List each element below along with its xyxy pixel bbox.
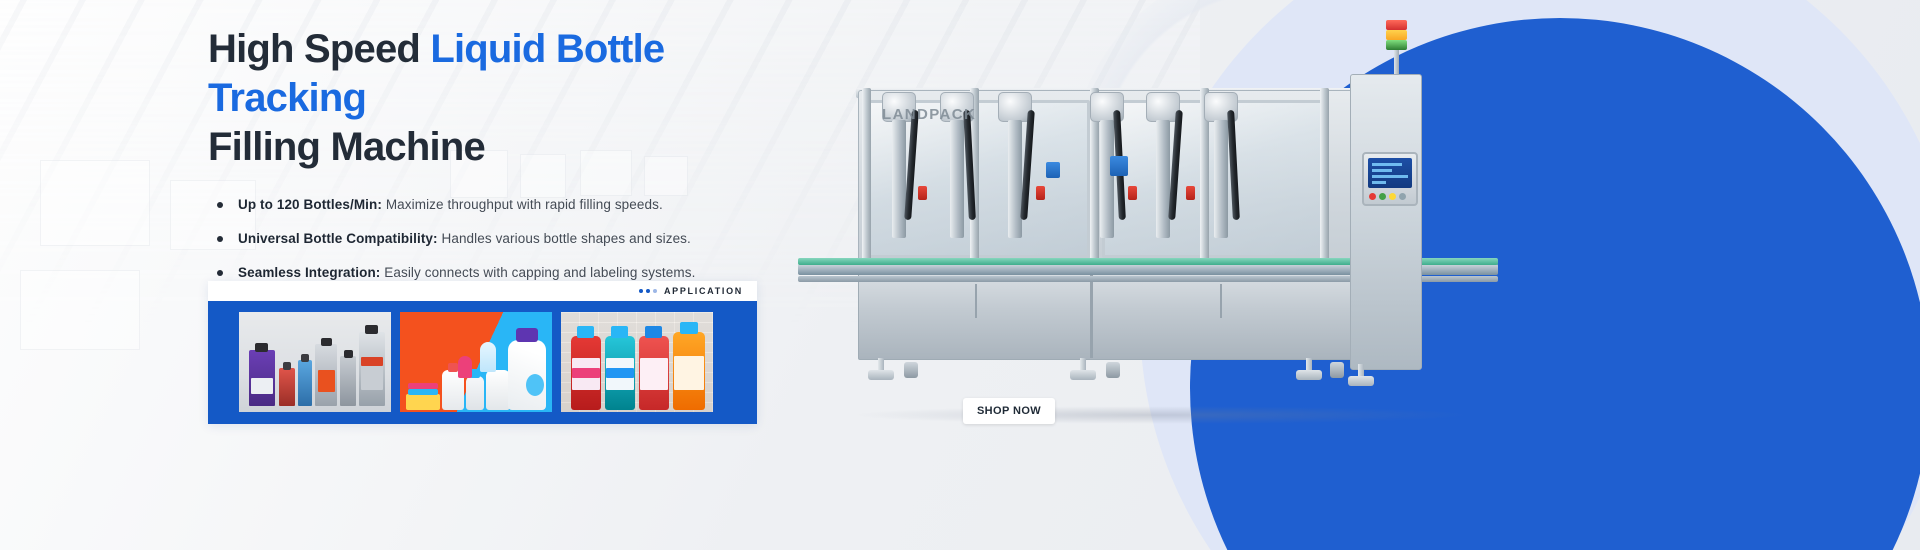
application-photo-detergent[interactable]: [400, 312, 552, 412]
machine-control-tower: [1350, 74, 1422, 370]
stack-light-amber: [1386, 30, 1407, 40]
bullet-icon: [217, 202, 223, 208]
machine-base-divider: [975, 284, 977, 318]
feature-text: Handles various bottle shapes and sizes.: [438, 231, 691, 246]
machine-foot: [868, 370, 894, 380]
machine-foot: [1348, 376, 1374, 386]
machine-red-indicator: [1036, 186, 1045, 200]
machine-base-divider: [1220, 284, 1222, 318]
shop-now-button[interactable]: SHOP NOW: [963, 398, 1055, 424]
machine-caster: [1106, 362, 1120, 378]
machine-frame-post: [862, 88, 871, 268]
feature-text: Maximize throughput with rapid filling s…: [382, 197, 663, 212]
dots-icon: [639, 289, 657, 293]
machine-nozzle: [892, 120, 906, 238]
list-item: Universal Bottle Compatibility: Handles …: [208, 231, 828, 248]
application-photo-motor-oil[interactable]: [239, 312, 391, 412]
application-photos: [208, 301, 757, 424]
machine-nozzle: [1008, 120, 1022, 238]
machine-caster: [904, 362, 918, 378]
headline-part-1: High Speed: [208, 27, 430, 71]
machine-nozzle: [1100, 120, 1114, 238]
bullet-icon: [217, 236, 223, 242]
application-label: APPLICATION: [664, 286, 743, 296]
feature-list: Up to 120 Bottles/Min: Maximize throughp…: [208, 197, 828, 282]
feature-title: Universal Bottle Compatibility:: [238, 231, 438, 246]
machine-nozzle: [950, 120, 964, 238]
feature-text: Easily connects with capping and labelin…: [380, 265, 695, 280]
headline-part-2: Filling Machine: [208, 125, 485, 169]
application-photo-juice[interactable]: [561, 312, 713, 412]
machine-shadow: [850, 406, 1470, 424]
product-image-filling-machine: LANDPACK: [790, 14, 1550, 444]
feature-title: Seamless Integration:: [238, 265, 380, 280]
machine-nozzle: [1156, 120, 1170, 238]
machine-brand-label: LANDPACK: [882, 106, 976, 123]
machine-hmi-panel[interactable]: [1362, 152, 1418, 206]
machine-red-indicator: [1186, 186, 1195, 200]
stack-light-green: [1386, 40, 1407, 50]
machine-frame-post: [1320, 88, 1329, 268]
feature-title: Up to 120 Bottles/Min:: [238, 197, 382, 212]
machine-blue-module: [1046, 162, 1060, 178]
hmi-buttons[interactable]: [1369, 193, 1406, 200]
stack-light-red: [1386, 20, 1407, 30]
hmi-screen: [1368, 158, 1412, 188]
application-header: APPLICATION: [208, 281, 757, 301]
list-item: Up to 120 Bottles/Min: Maximize throughp…: [208, 197, 828, 214]
machine-glass-panel-right: [1102, 100, 1324, 258]
machine-foot: [1070, 370, 1096, 380]
bullet-icon: [217, 270, 223, 276]
machine-nozzle: [1214, 120, 1228, 238]
machine-red-indicator: [1128, 186, 1137, 200]
machine-red-indicator: [918, 186, 927, 200]
promo-banner: High Speed Liquid Bottle Tracking Fillin…: [0, 0, 1920, 550]
application-strip: APPLICATION: [208, 281, 757, 424]
machine-blue-module: [1110, 156, 1128, 176]
machine-foot: [1296, 370, 1322, 380]
machine-caster: [1330, 362, 1344, 378]
page-title: High Speed Liquid Bottle Tracking Fillin…: [208, 25, 828, 171]
list-item: Seamless Integration: Easily connects wi…: [208, 265, 828, 282]
